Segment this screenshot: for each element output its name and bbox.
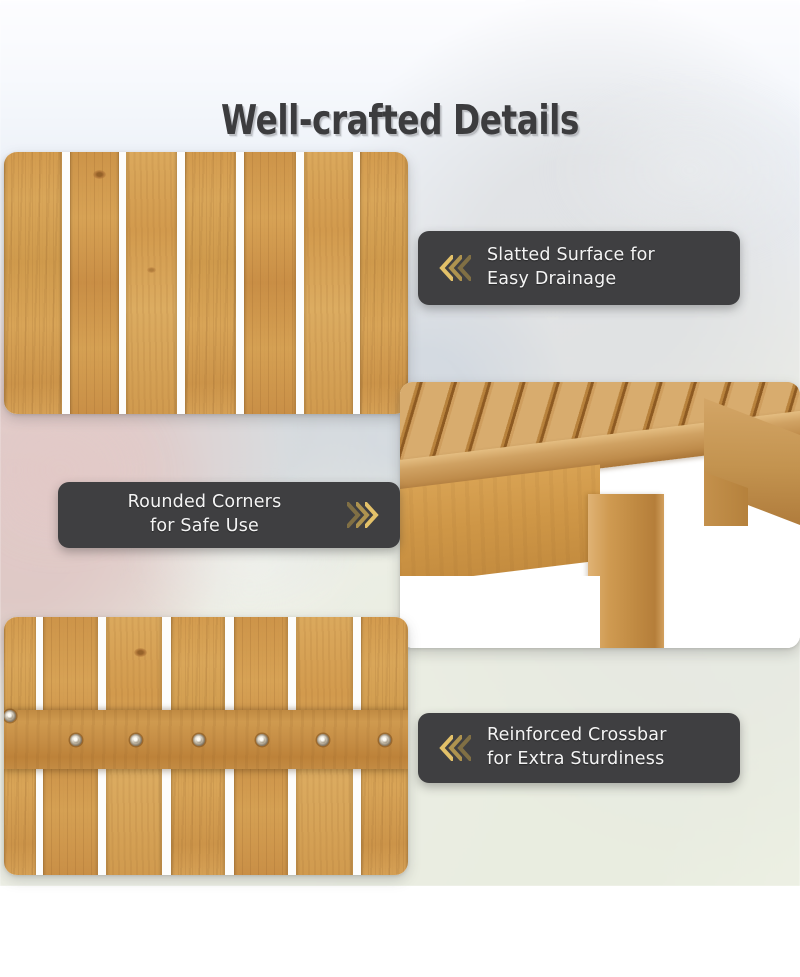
slat-gap <box>119 152 126 414</box>
callout-label: Reinforced Crossbar for Extra Sturdiness <box>487 724 667 772</box>
crossbar-screw <box>317 734 329 746</box>
slat-field <box>4 152 408 414</box>
slat-gap <box>353 152 360 414</box>
product-detail-infographic: Well-crafted Details <box>0 0 800 977</box>
crossbar-screw <box>193 734 205 746</box>
callout-rounded-corners: Rounded Corners for Safe Use <box>58 482 400 548</box>
photo-cutout-right <box>640 526 800 648</box>
bottom-white-band <box>0 886 800 977</box>
slat-gap <box>177 152 185 414</box>
slatted-surface-photo <box>4 152 408 414</box>
callout-reinforced-crossbar: Reinforced Crossbar for Extra Sturdiness <box>418 713 740 783</box>
wood-slat <box>304 152 353 414</box>
wood-slat <box>185 152 236 414</box>
callout-label: Slatted Surface for Easy Drainage <box>487 244 655 292</box>
wood-slat <box>4 152 62 414</box>
wood-slat <box>126 152 177 414</box>
crossbar-screw <box>70 734 82 746</box>
slat-gap <box>62 152 70 414</box>
reinforced-crossbar <box>4 710 408 769</box>
crossbar-screw <box>256 734 268 746</box>
photo-cutout-left <box>400 576 600 648</box>
chevron-left-icon <box>438 735 471 761</box>
chevron-left-icon <box>438 255 471 281</box>
reinforced-crossbar-photo <box>4 617 408 875</box>
crossbar-screw <box>130 734 142 746</box>
slat-gap <box>296 152 304 414</box>
rounded-corner-photo <box>400 382 800 648</box>
crossbar-screw <box>379 734 391 746</box>
wood-slat <box>244 152 296 414</box>
wood-slat <box>360 152 408 414</box>
wood-slat <box>70 152 119 414</box>
chevron-right-icon <box>347 502 380 528</box>
callout-slatted-surface: Slatted Surface for Easy Drainage <box>418 231 740 305</box>
page-title: Well-crafted Details <box>80 96 720 144</box>
slat-gap <box>236 152 244 414</box>
callout-label: Rounded Corners for Safe Use <box>78 491 331 539</box>
